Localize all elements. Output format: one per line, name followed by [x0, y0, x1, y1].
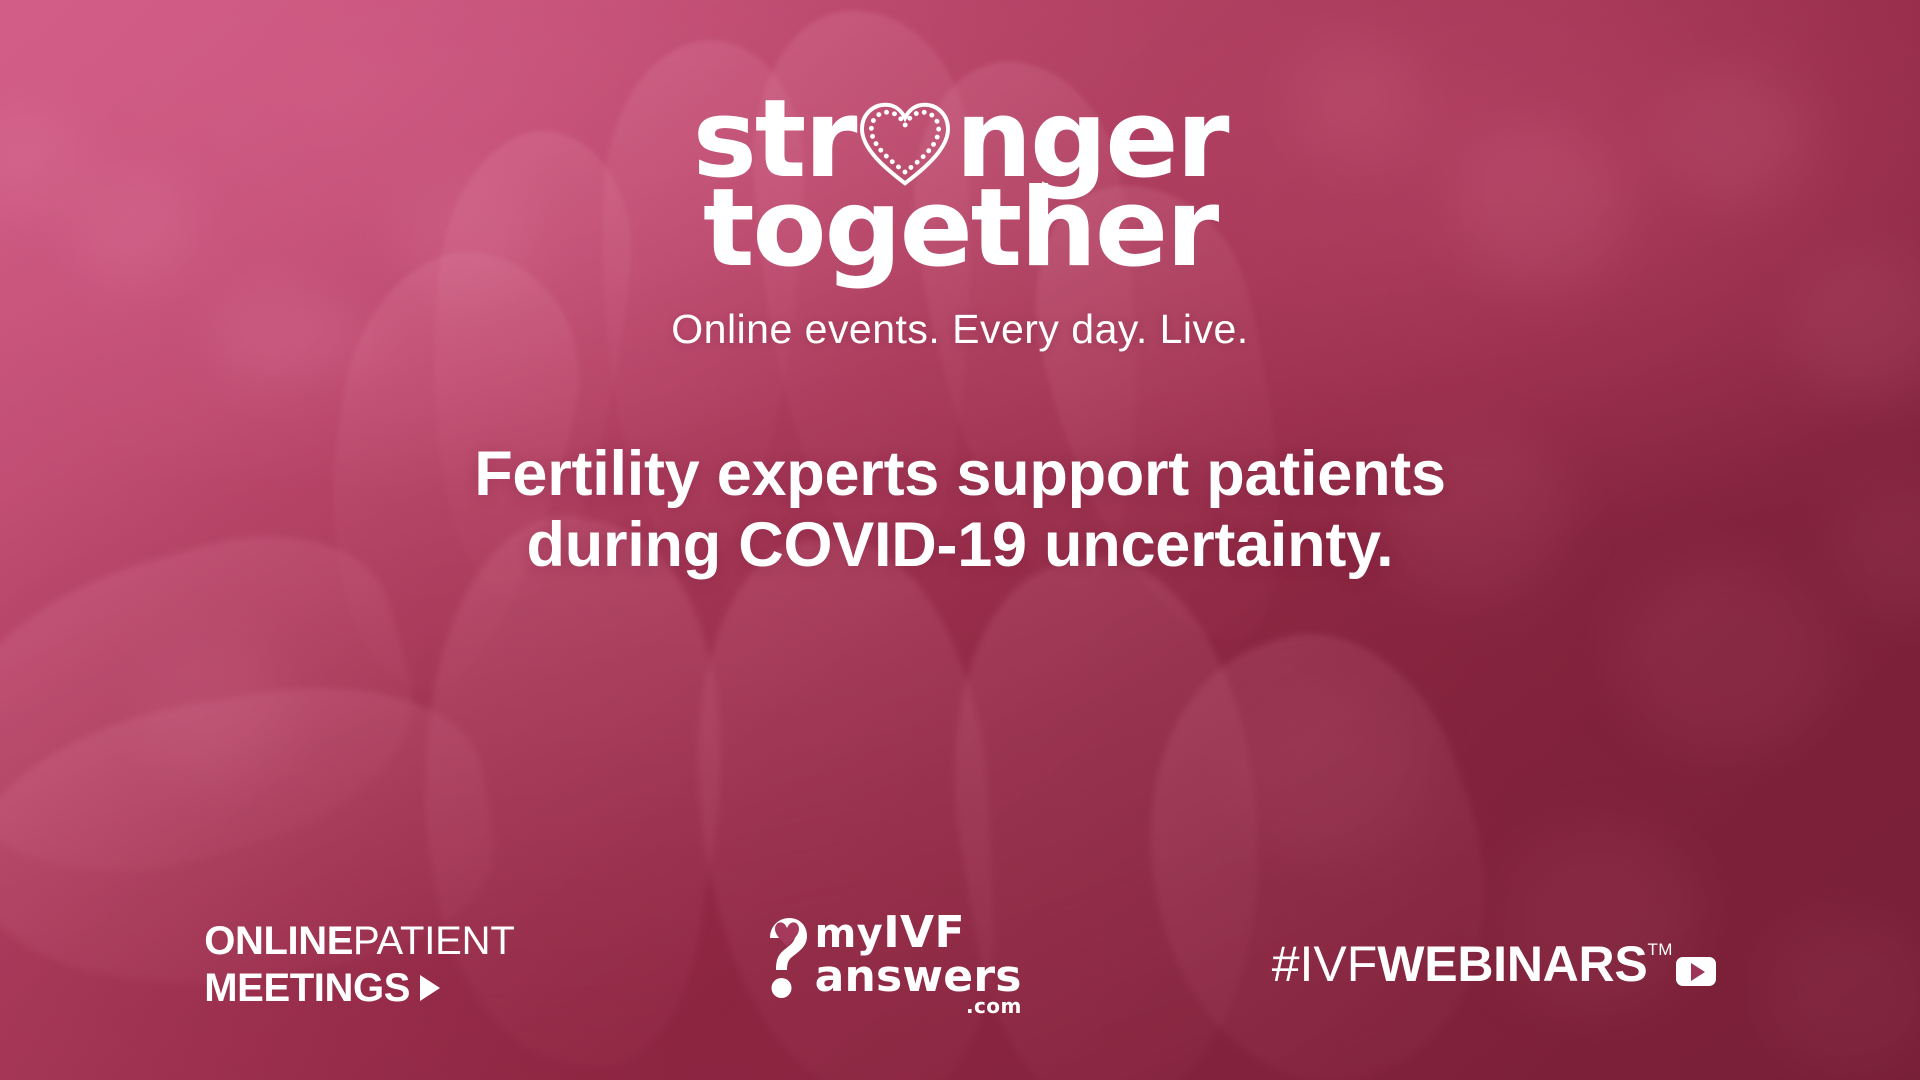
youtube-play-badge-icon — [1676, 957, 1716, 986]
online-patient-meetings-logo[interactable]: ONLINE PATIENT MEETINGS — [204, 921, 514, 1008]
opm-patient-text: PATIENT — [353, 921, 515, 961]
myivfanswers-logo[interactable]: myIVF answers .com — [765, 912, 1022, 1016]
ivfwebinars-hash-text: #IVF — [1272, 939, 1378, 989]
play-triangle-glyph — [1691, 963, 1705, 981]
ivfwebinars-wordmark: #IVF WEBINARS TM — [1272, 939, 1673, 989]
opm-online-text: ONLINE — [204, 921, 353, 961]
tagline: Online events. Every day. Live. — [671, 306, 1248, 353]
ivfwebinars-bold-text: WEBINARS — [1377, 939, 1647, 989]
myivfanswers-wordmark: myIVF answers .com — [815, 912, 1022, 1016]
title-card: str nger together Online events. Every d… — [0, 0, 1920, 1080]
opm-line-1: ONLINE PATIENT — [204, 921, 514, 961]
heart-outline-dotted-icon — [857, 101, 953, 187]
question-mark-heart-icon — [765, 916, 809, 1000]
opm-meetings-text: MEETINGS — [204, 968, 410, 1008]
headline-line-1: Fertility experts support patients — [474, 439, 1446, 510]
opm-line-2: MEETINGS — [204, 968, 514, 1008]
stronger-together-logo: str nger together — [693, 92, 1228, 276]
ivfwebinars-logo[interactable]: #IVF WEBINARS TM — [1272, 939, 1716, 989]
partner-logo-row: ONLINE PATIENT MEETINGS myIVF answers .c… — [0, 912, 1920, 1016]
headline-line-2: during COVID-19 uncertainty. — [474, 510, 1446, 581]
trademark-symbol: TM — [1648, 941, 1673, 958]
myivf-answers-text: answers — [815, 956, 1022, 997]
play-triangle-icon — [420, 975, 440, 1001]
headline: Fertility experts support patients durin… — [474, 439, 1446, 580]
wordmark-line-2: together — [693, 181, 1228, 276]
